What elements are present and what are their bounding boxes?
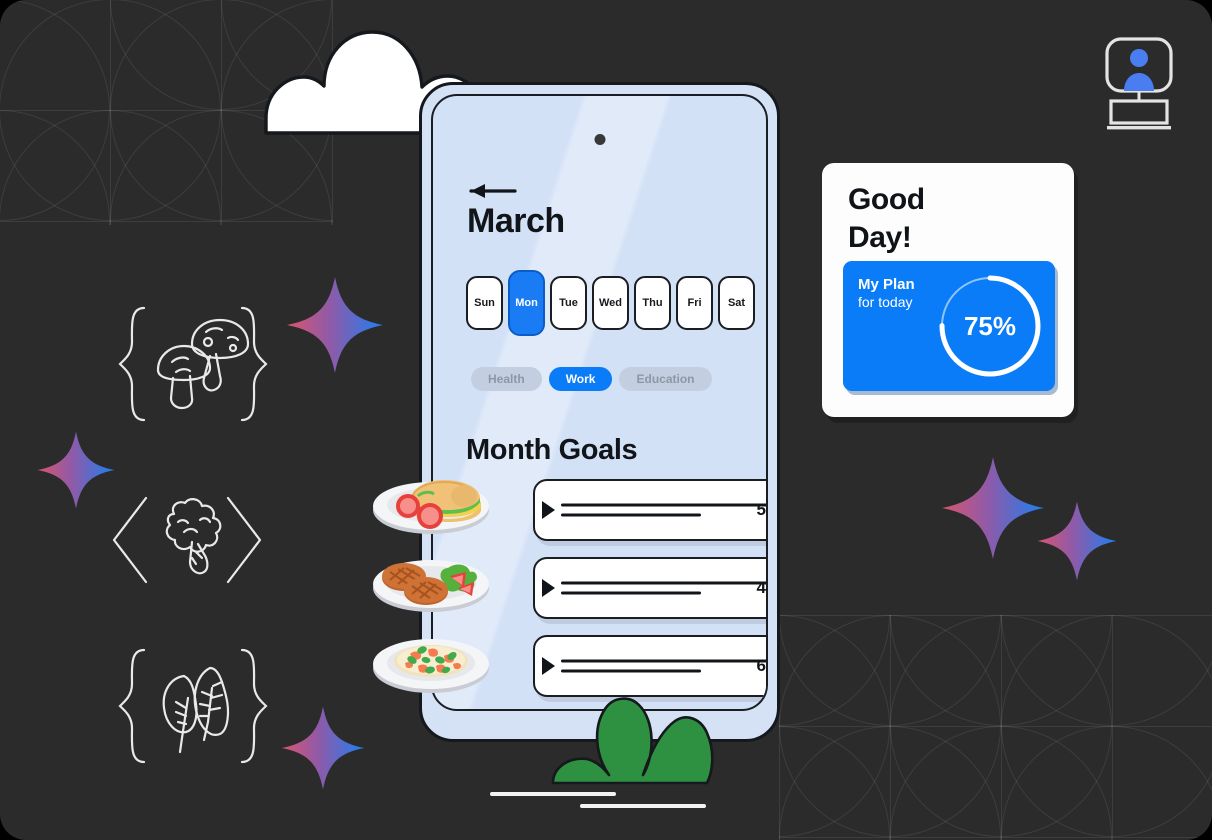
bush-shape [551, 693, 743, 785]
broccoli-icon-glyph [108, 492, 266, 588]
sparkle-star-3 [940, 455, 1046, 561]
sparkle-star-1 [285, 275, 385, 375]
poster-canvas: March Sun Mon Tue Wed Thu Fri Sat Health… [0, 0, 1212, 840]
user-avatar-monitor-icon[interactable] [1103, 36, 1175, 132]
goal-list: 521kcal 407kcal [533, 479, 768, 711]
tab-health[interactable]: Health [471, 367, 542, 391]
tab-work[interactable]: Work [549, 367, 613, 391]
day-chip-sun[interactable]: Sun [466, 276, 503, 330]
card-title: Good Day! [848, 181, 925, 257]
front-camera-dot [594, 134, 605, 145]
goal-line-short [561, 514, 701, 517]
shrimp-pasta-plate [368, 618, 494, 696]
play-icon[interactable] [542, 657, 555, 675]
day-chip-tue[interactable]: Tue [550, 276, 587, 330]
page-title: March [467, 202, 565, 241]
my-plan-title: My Plan [858, 276, 915, 293]
day-chip-mon[interactable]: Mon [508, 270, 545, 336]
day-label: Tue [559, 297, 578, 309]
day-label: Sun [474, 297, 495, 309]
goal-calories: 521kcal [757, 500, 768, 520]
day-chip-wed[interactable]: Wed [592, 276, 629, 330]
my-plan-label: My Plan for today [858, 275, 915, 312]
day-selector[interactable]: Sun Mon Tue Wed Thu Fri Sat [466, 270, 755, 336]
sparkle-star-5 [280, 705, 366, 791]
background-grid-bottom-right [779, 615, 1212, 840]
list-item[interactable]: 407kcal [533, 557, 768, 619]
play-icon[interactable] [542, 579, 555, 597]
goal-progress-lines [561, 504, 768, 517]
tab-education[interactable]: Education [619, 367, 711, 391]
good-day-card: Good Day! My Plan for today 75% [822, 163, 1074, 417]
play-icon[interactable] [542, 501, 555, 519]
category-tabs[interactable]: Health Work Education [471, 367, 712, 391]
day-label: Sat [728, 297, 745, 309]
back-arrow-icon[interactable] [469, 182, 517, 200]
progress-percent: 75% [933, 269, 1047, 383]
day-chip-sat[interactable]: Sat [718, 276, 755, 330]
day-label: Fri [687, 297, 701, 309]
decorative-line-1 [490, 792, 616, 796]
goal-line-long [561, 660, 768, 663]
goal-line-long [561, 504, 768, 507]
mushrooms-icon [118, 296, 268, 432]
sparkle-star-4 [1036, 500, 1118, 582]
my-plan-card[interactable]: My Plan for today 75% [843, 261, 1055, 391]
goal-calories: 619kcal [757, 656, 768, 676]
sandwich-tomato-plate [368, 458, 494, 536]
grilled-patties-salad-plate [368, 538, 494, 616]
spinach-leaves-icon [118, 638, 268, 774]
goal-line-short [561, 592, 701, 595]
goal-progress-lines [561, 660, 768, 673]
day-label: Mon [515, 297, 538, 309]
decorative-line-2 [580, 804, 706, 808]
day-chip-fri[interactable]: Fri [676, 276, 713, 330]
grid-circles [779, 615, 1212, 840]
sparkle-star-2 [36, 430, 116, 510]
goal-line-short [561, 670, 701, 673]
day-label: Thu [642, 297, 662, 309]
goal-progress-lines [561, 582, 768, 595]
list-item[interactable]: 619kcal [533, 635, 768, 697]
goal-calories: 407kcal [757, 578, 768, 598]
broccoli-icon [108, 492, 266, 588]
list-item[interactable]: 521kcal [533, 479, 768, 541]
goal-line-long [561, 582, 768, 585]
day-chip-thu[interactable]: Thu [634, 276, 671, 330]
my-plan-subtitle: for today [858, 294, 915, 312]
day-label: Wed [599, 297, 622, 309]
grid-lines [779, 615, 1212, 840]
